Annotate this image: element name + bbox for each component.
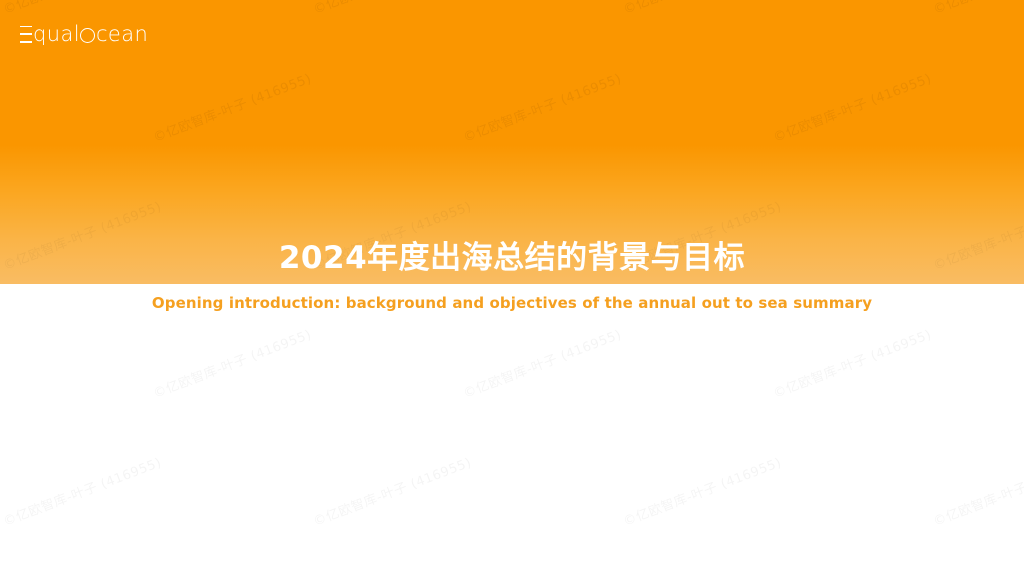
- watermark-text: ©亿欧智库-叶子 (416955): [0, 452, 164, 530]
- slide-canvas: ©亿欧智库-叶子 (416955)©亿欧智库-叶子 (416955)©亿欧智库-…: [0, 0, 1024, 576]
- logo-wordmark: qualcean: [20, 24, 148, 45]
- watermark-text: ©亿欧智库-叶子 (416955): [770, 324, 934, 402]
- watermark-text: ©亿欧智库-叶子 (416955): [620, 452, 784, 530]
- slide-title: 2024年度出海总结的背景与目标: [0, 238, 1024, 278]
- logo-text-cean: cean: [96, 24, 148, 45]
- logo-letter-e-icon: [20, 26, 32, 43]
- logo-text-qual: qual: [33, 24, 80, 45]
- watermark-text: ©亿欧智库-叶子 (416955): [0, 324, 4, 402]
- watermark-text: ©亿欧智库-叶子 (416955): [930, 452, 1024, 530]
- equalocean-logo[interactable]: qualcean: [20, 22, 148, 46]
- logo-letter-o-icon: [80, 28, 95, 43]
- watermark-text: ©亿欧智库-叶子 (416955): [460, 324, 624, 402]
- watermark-text: ©亿欧智库-叶子 (416955): [310, 452, 474, 530]
- watermark-text: ©亿欧智库-叶子 (416955): [150, 324, 314, 402]
- slide-subtitle: Opening introduction: background and obj…: [0, 293, 1024, 313]
